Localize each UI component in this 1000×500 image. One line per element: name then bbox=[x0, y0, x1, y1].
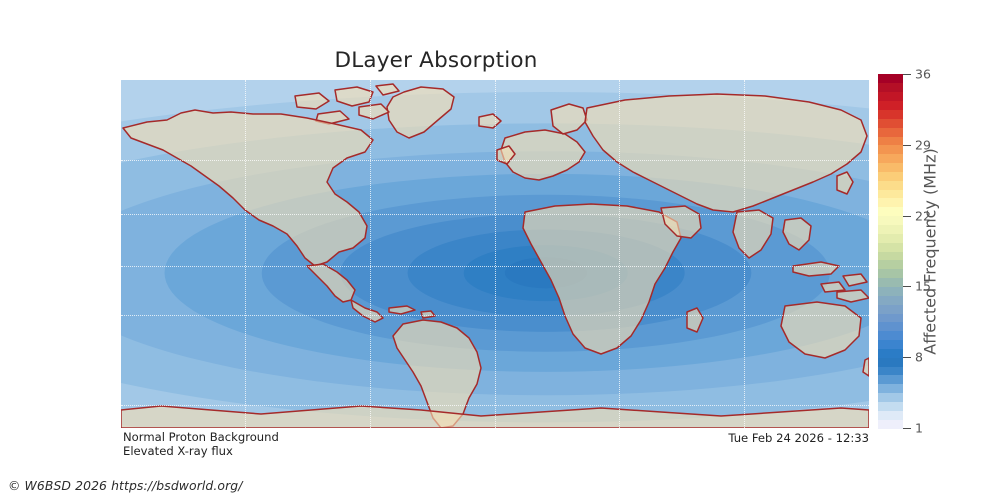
colorbar-band bbox=[878, 189, 903, 198]
colorbar-band bbox=[878, 410, 903, 419]
colorbar-tick bbox=[903, 74, 911, 75]
colorbar-band bbox=[878, 348, 903, 357]
colorbar-band bbox=[878, 145, 903, 154]
colorbar-band bbox=[878, 83, 903, 92]
colorbar-band bbox=[878, 286, 903, 295]
colorbar-band bbox=[878, 260, 903, 269]
world-absorption-map[interactable] bbox=[121, 80, 869, 428]
colorbar-band bbox=[878, 233, 903, 242]
colorbar-axis-label: Affected Frequency (MHz) bbox=[919, 74, 941, 428]
colorbar-band bbox=[878, 224, 903, 233]
colorbar-band bbox=[878, 322, 903, 331]
colorbar-band bbox=[878, 278, 903, 287]
colorbar-band bbox=[878, 295, 903, 304]
colorbar-band bbox=[878, 384, 903, 393]
colorbar-band bbox=[878, 154, 903, 163]
colorbar-band bbox=[878, 207, 903, 216]
colorbar[interactable]: Max 3629221581 bbox=[878, 74, 903, 428]
colorbar-band bbox=[878, 401, 903, 410]
colorbar-tick bbox=[903, 357, 911, 358]
colorbar-band bbox=[878, 242, 903, 251]
colorbar-tick bbox=[903, 145, 911, 146]
copyright-credit: © W6BSD 2026 https://bsdworld.org/ bbox=[8, 478, 243, 493]
colorbar-band bbox=[878, 74, 903, 83]
colorbar-band bbox=[878, 313, 903, 322]
colorbar-band bbox=[878, 375, 903, 384]
colorbar-band bbox=[878, 393, 903, 402]
proton-background-note: Normal Proton Background bbox=[123, 430, 279, 444]
colorbar-band bbox=[878, 171, 903, 180]
colorbar-band bbox=[878, 216, 903, 225]
page-title: DLayer Absorption bbox=[0, 48, 872, 73]
xray-flux-note: Elevated X-ray flux bbox=[123, 444, 233, 458]
colorbar-tick bbox=[903, 428, 911, 429]
colorbar-band bbox=[878, 304, 903, 313]
colorbar-band bbox=[878, 109, 903, 118]
colorbar-band bbox=[878, 92, 903, 101]
colorbar-band bbox=[878, 269, 903, 278]
map-canvas bbox=[121, 80, 869, 428]
colorbar-band bbox=[878, 340, 903, 349]
colorbar-axis-label-text: Affected Frequency (MHz) bbox=[921, 148, 940, 354]
colorbar-band bbox=[878, 180, 903, 189]
colorbar-band bbox=[878, 136, 903, 145]
colorbar-tick bbox=[903, 216, 911, 217]
colorbar-band bbox=[878, 331, 903, 340]
timestamp-label: Tue Feb 24 2026 - 12:33 bbox=[728, 431, 869, 445]
colorbar-band bbox=[878, 118, 903, 127]
colorbar-band bbox=[878, 366, 903, 375]
colorbar-band bbox=[878, 198, 903, 207]
colorbar-band bbox=[878, 127, 903, 136]
colorbar-band bbox=[878, 251, 903, 260]
colorbar-band bbox=[878, 357, 903, 366]
colorbar-band bbox=[878, 101, 903, 110]
coastlines-layer bbox=[121, 80, 869, 428]
colorbar-band bbox=[878, 163, 903, 172]
colorbar-tick bbox=[903, 286, 911, 287]
colorbar-band bbox=[878, 419, 903, 428]
